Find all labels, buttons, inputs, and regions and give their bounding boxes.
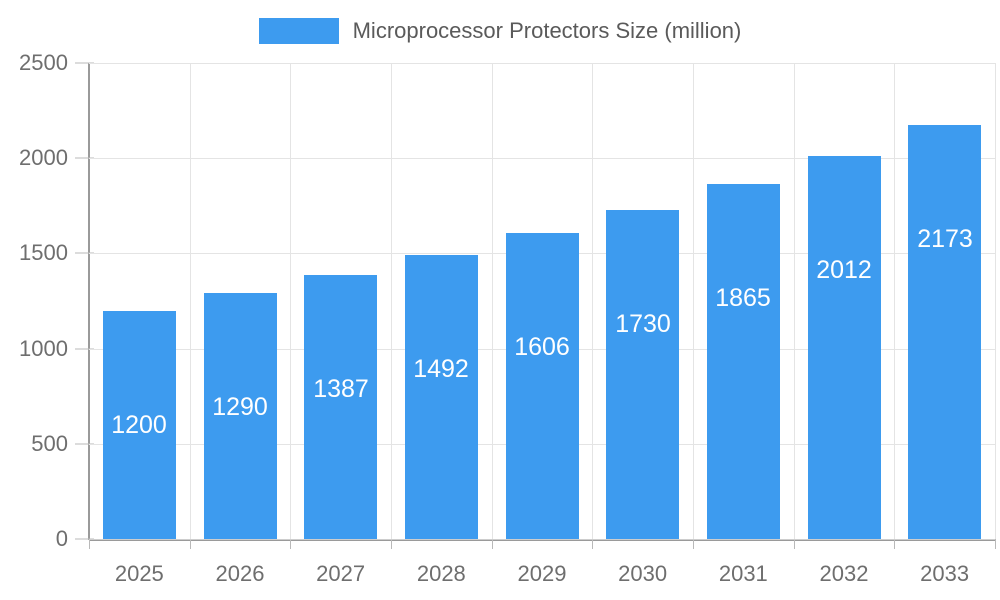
y-axis-tick-label: 500	[0, 431, 68, 457]
x-axis-tick-label: 2029	[518, 561, 567, 587]
bar[interactable]	[405, 255, 478, 539]
chart-legend: Microprocessor Protectors Size (million)	[0, 14, 1000, 48]
bar-value-label: 1290	[212, 393, 268, 422]
gridline-x	[391, 63, 392, 539]
x-axis-tick-mark	[391, 539, 392, 549]
bar-value-label: 1865	[715, 284, 771, 313]
gridline-x	[592, 63, 593, 539]
gridline-x	[693, 63, 694, 539]
y-axis-tick-label: 1500	[0, 240, 68, 266]
x-axis-tick-label: 2028	[417, 561, 466, 587]
x-axis-tick-label: 2032	[820, 561, 869, 587]
gridline-x	[290, 63, 291, 539]
bar[interactable]	[808, 156, 881, 539]
x-axis-tick-mark	[492, 539, 493, 549]
y-axis-tick-label: 2500	[0, 50, 68, 76]
legend-label: Microprocessor Protectors Size (million)	[353, 18, 742, 44]
bar[interactable]	[606, 210, 679, 539]
bar[interactable]	[908, 125, 981, 539]
x-axis-tick-mark	[995, 539, 996, 549]
x-axis-tick-label: 2026	[216, 561, 265, 587]
x-axis-tick-label: 2033	[920, 561, 969, 587]
bar-value-label: 2173	[917, 225, 973, 254]
bar-value-label: 1730	[615, 310, 671, 339]
plot-area: 120012901387149216061730186520122173	[89, 63, 995, 539]
bar-value-label: 1200	[111, 411, 167, 440]
gridline-y	[89, 539, 995, 540]
x-axis-tick-mark	[290, 539, 291, 549]
gridline-x	[995, 63, 996, 539]
gridline-x	[190, 63, 191, 539]
bar-value-label: 1492	[413, 355, 469, 384]
bar[interactable]	[506, 233, 579, 539]
gridline-x	[894, 63, 895, 539]
legend-color-swatch	[259, 18, 339, 44]
bar-value-label: 1606	[514, 333, 570, 362]
x-axis-tick-label: 2031	[719, 561, 768, 587]
gridline-x	[794, 63, 795, 539]
x-axis-tick-mark	[190, 539, 191, 549]
x-axis-tick-label: 2027	[316, 561, 365, 587]
y-axis-tick-label: 1000	[0, 336, 68, 362]
gridline-x	[492, 63, 493, 539]
y-axis-tick-label: 0	[0, 526, 68, 552]
x-axis-tick-mark	[693, 539, 694, 549]
bar[interactable]	[707, 184, 780, 539]
x-axis-tick-mark	[794, 539, 795, 549]
x-axis-tick-mark	[894, 539, 895, 549]
bar-value-label: 2012	[816, 256, 872, 285]
y-axis-tick-label: 2000	[0, 145, 68, 171]
gridline-y	[89, 63, 995, 64]
x-axis-tick-label: 2025	[115, 561, 164, 587]
x-axis-tick-mark	[89, 539, 90, 549]
bar[interactable]	[304, 275, 377, 539]
bar-value-label: 1387	[313, 375, 369, 404]
x-axis-tick-label: 2030	[618, 561, 667, 587]
x-axis-tick-mark	[592, 539, 593, 549]
bar-chart: Microprocessor Protectors Size (million)…	[0, 0, 1000, 600]
